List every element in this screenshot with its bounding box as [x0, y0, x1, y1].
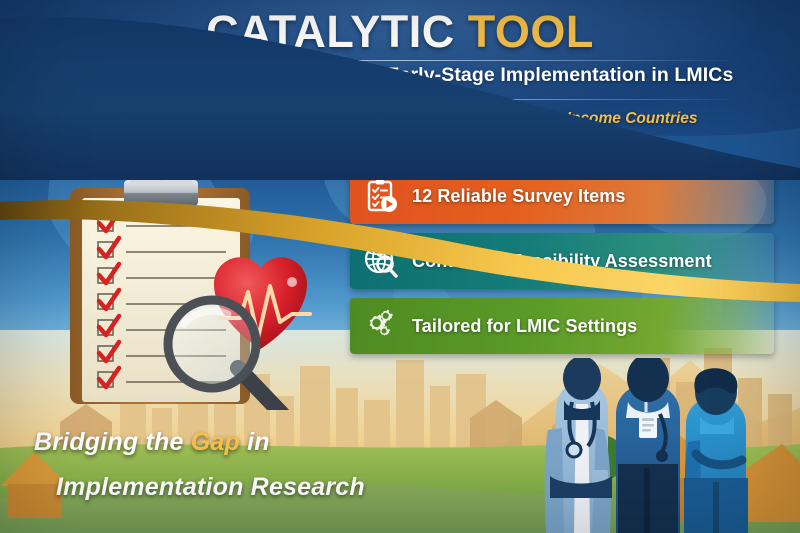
footer-slogan-line-1: Bridging the Gap in [34, 428, 270, 457]
title-accent: TOOL [468, 6, 594, 57]
infographic-poster: CATALYTIC TOOL Contextual Index of Feasi… [0, 0, 800, 533]
feature-label: 12 Reliable Survey Items [412, 186, 626, 207]
feature-label: Tailored for LMIC Settings [412, 316, 637, 337]
slogan-accent-gap: Gap [191, 428, 240, 456]
checklist-play-icon [350, 178, 412, 214]
clipboard-illustration [46, 160, 346, 410]
slogan-text-a: Bridging the [34, 428, 191, 456]
slogan-text-b: in [240, 428, 270, 456]
gears-icon [350, 308, 412, 344]
footer-slogan-line-2: Implementation Research [56, 473, 365, 502]
feature-bar-lmic-settings[interactable]: Tailored for LMIC Settings [350, 298, 774, 354]
healthcare-workers-illustration [520, 358, 800, 533]
